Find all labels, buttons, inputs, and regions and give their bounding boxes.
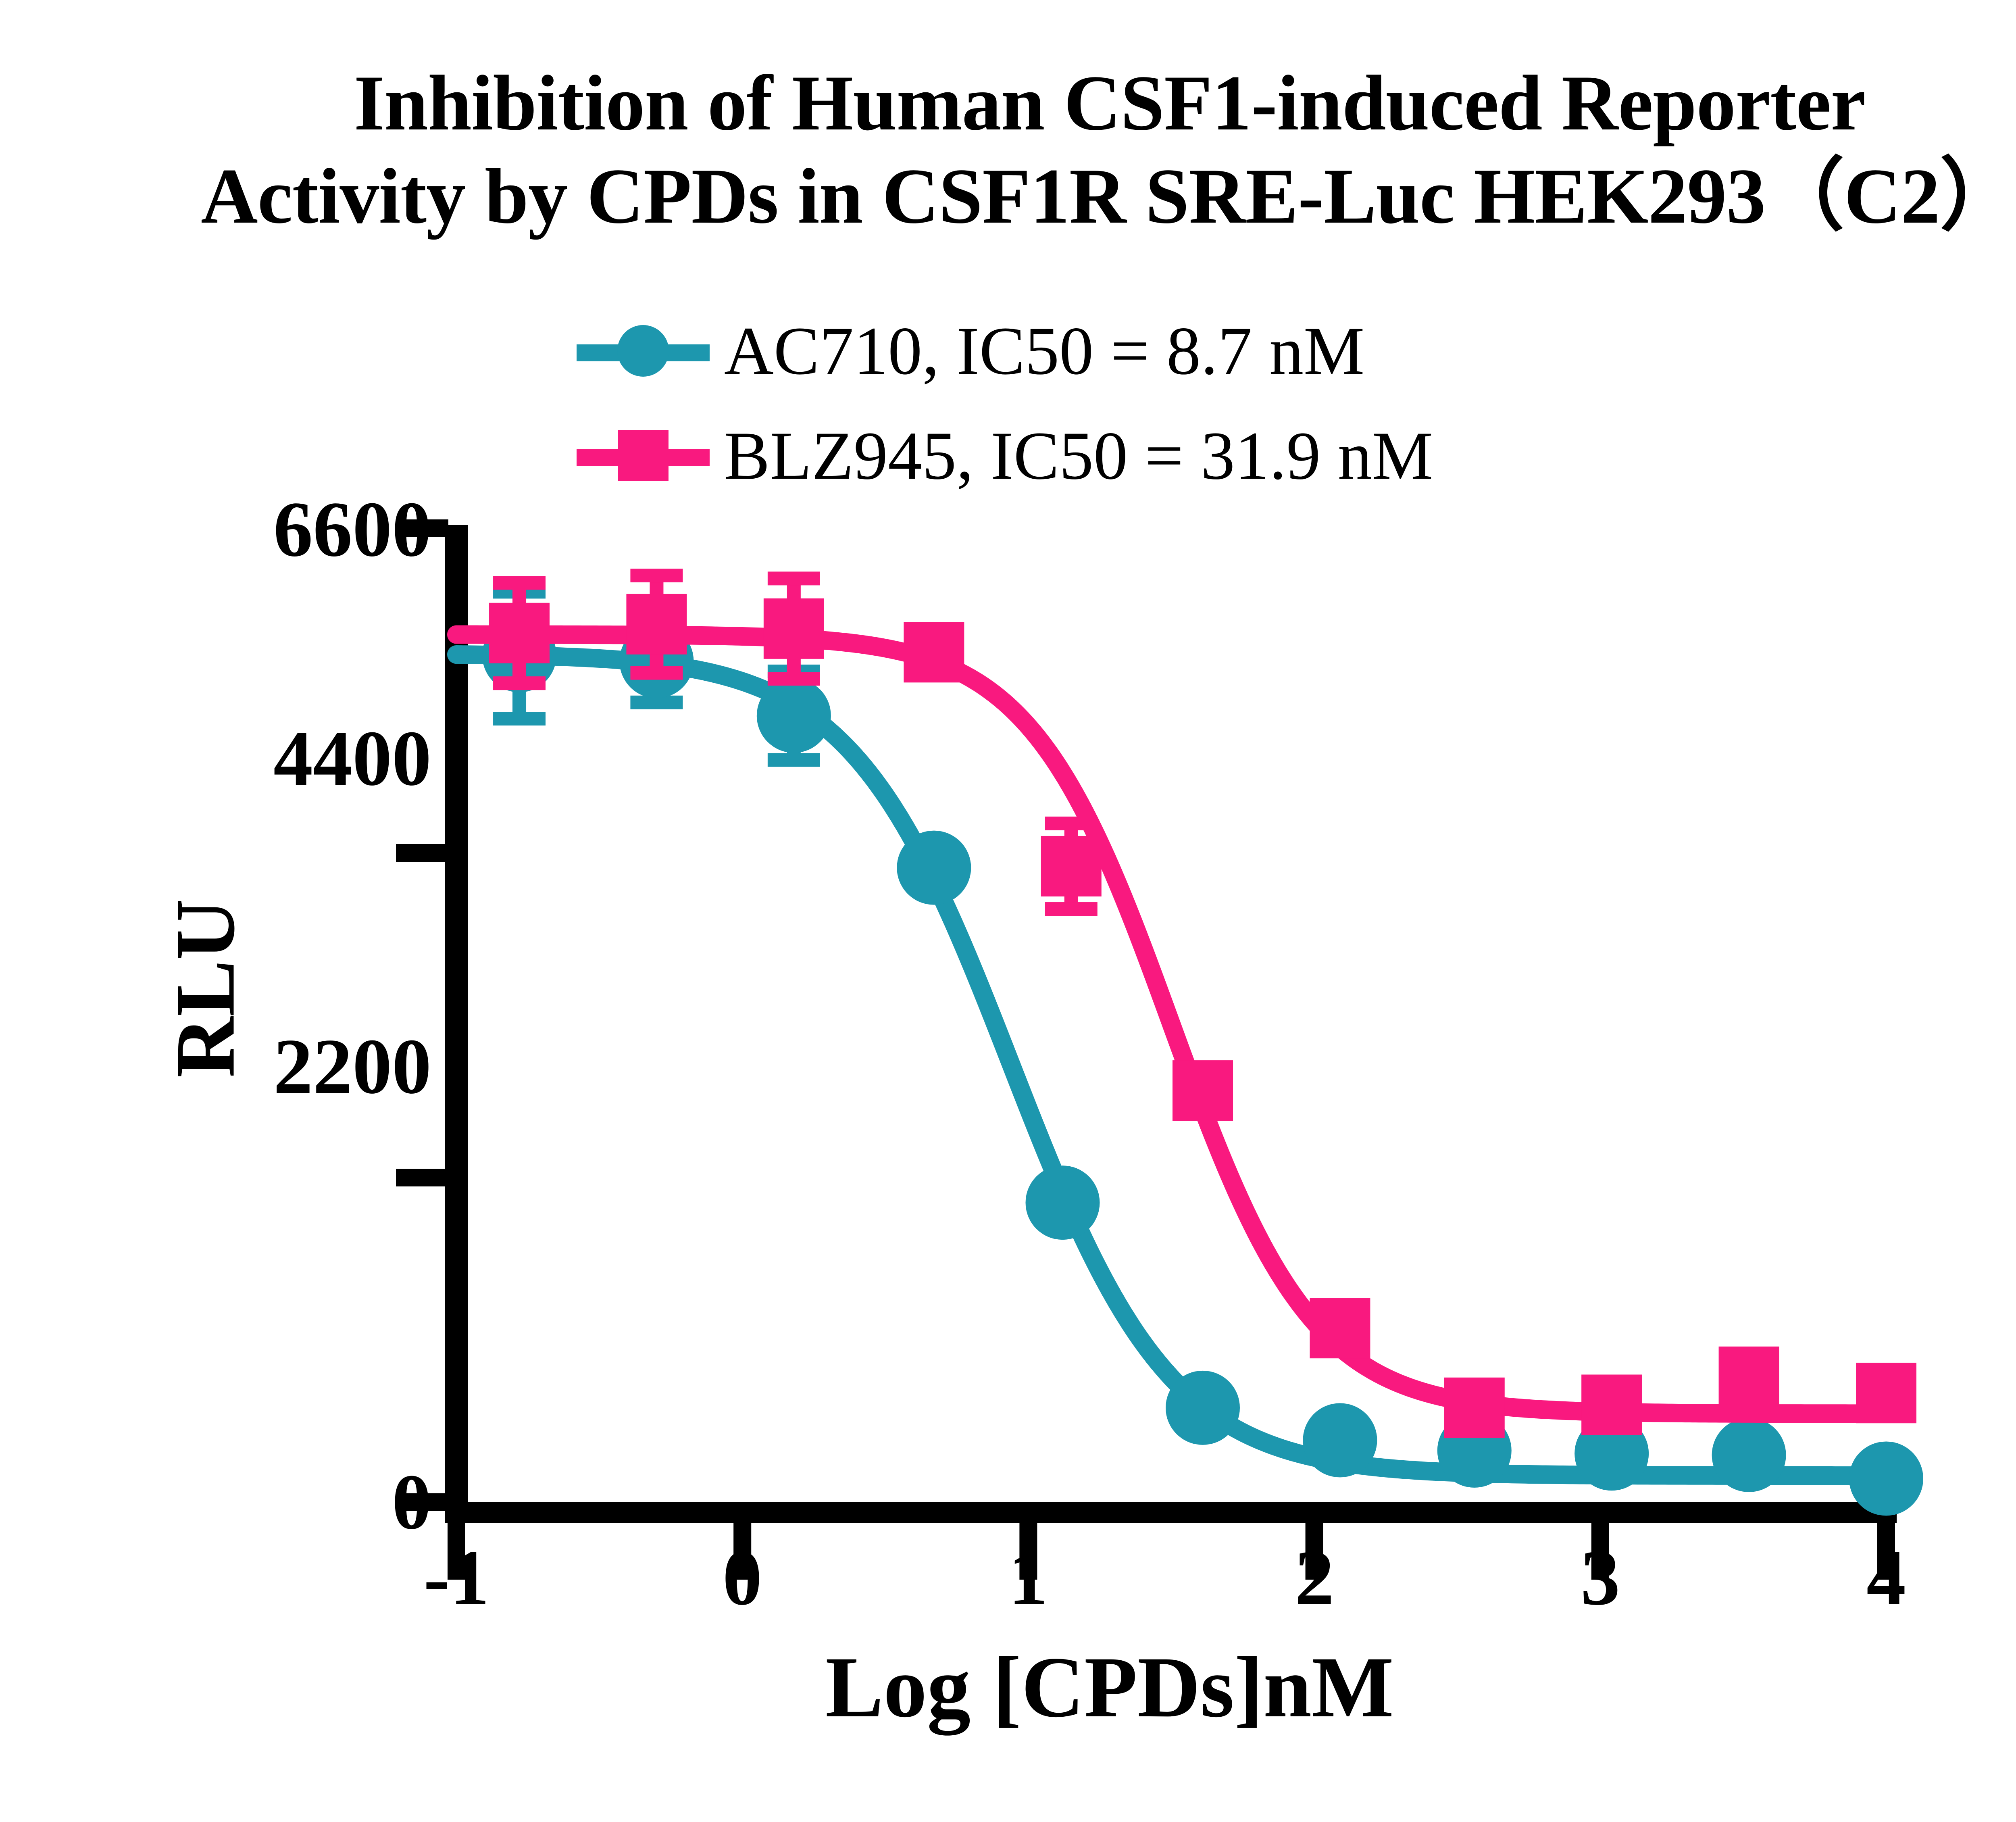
fit-curve-blz945 — [456, 635, 1886, 1414]
data-point-ac710-5[interactable] — [1166, 1371, 1240, 1445]
data-point-blz945-4[interactable] — [1041, 836, 1102, 896]
fit-curve-ac710 — [456, 655, 1886, 1476]
y-tick-0 — [396, 1493, 448, 1511]
chart-page: Inhibition of Human CSF1-induced Reporte… — [0, 0, 2016, 1822]
x-tick-4 — [1877, 1523, 1895, 1580]
data-point-ac710-9[interactable] — [1712, 1418, 1786, 1492]
data-point-blz945-10[interactable] — [1856, 1363, 1916, 1423]
data-point-ac710-3[interactable] — [897, 831, 971, 905]
x-tick--1 — [448, 1523, 465, 1580]
data-point-blz945-9[interactable] — [1719, 1347, 1779, 1407]
y-axis-spine — [445, 525, 468, 1513]
data-point-blz945-3[interactable] — [904, 622, 964, 682]
data-point-ac710-6[interactable] — [1303, 1403, 1377, 1477]
x-tick-3 — [1591, 1523, 1609, 1580]
data-point-blz945-1[interactable] — [626, 594, 687, 655]
y-tick-2200 — [396, 1169, 448, 1186]
x-tick-0 — [733, 1523, 751, 1580]
x-tick-2 — [1306, 1523, 1323, 1580]
data-point-blz945-2[interactable] — [764, 598, 824, 659]
plot-area — [0, 0, 2016, 1822]
x-axis-spine — [445, 1502, 1897, 1523]
y-tick-4400 — [396, 844, 448, 862]
data-point-blz945-6[interactable] — [1310, 1298, 1370, 1358]
data-point-blz945-5[interactable] — [1173, 1060, 1233, 1121]
data-point-blz945-8[interactable] — [1581, 1375, 1642, 1435]
data-point-blz945-7[interactable] — [1444, 1378, 1505, 1438]
data-point-ac710-10[interactable] — [1849, 1441, 1923, 1516]
x-tick-1 — [1019, 1523, 1037, 1580]
data-point-ac710-4[interactable] — [1026, 1165, 1100, 1240]
y-tick-6600 — [396, 519, 448, 537]
data-point-ac710-2[interactable] — [757, 679, 831, 753]
data-point-blz945-0[interactable] — [489, 603, 550, 663]
